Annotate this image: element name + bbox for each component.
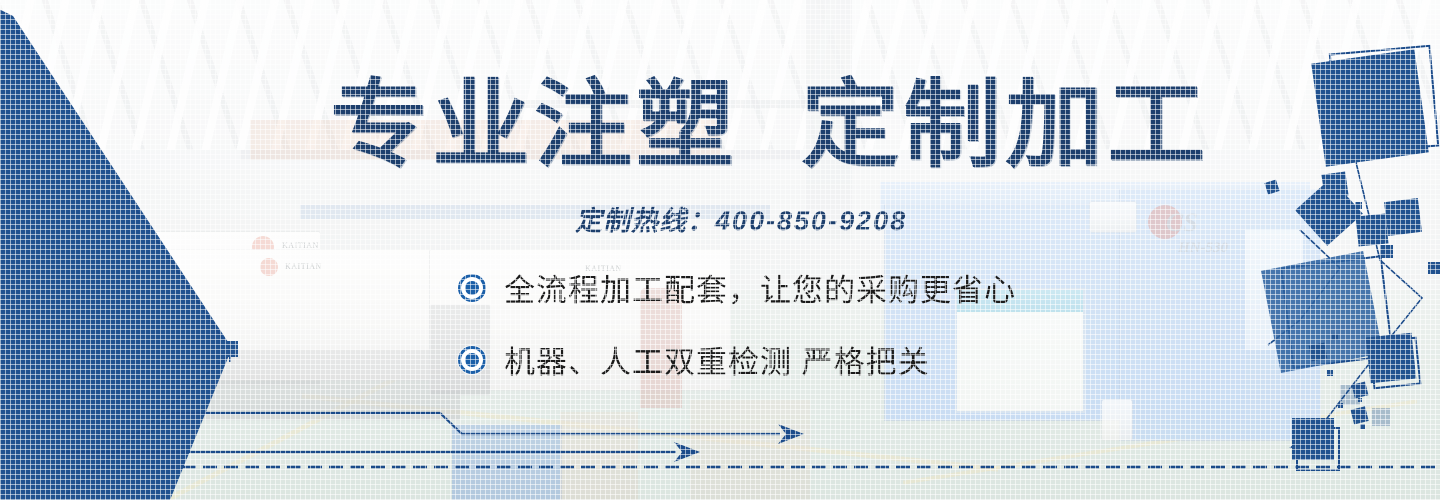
promo-banner: KAITIAN KAITIAN KAITIAN CS HN-530: [0, 0, 1440, 500]
list-item: 全流程加工配套，让您的采购更省心: [458, 265, 1016, 310]
hotline-number[interactable]: 400-850-9208: [715, 206, 907, 236]
headline-part-1: 专业注塑: [330, 78, 738, 174]
banner-content: 专业注塑 定制加工 定制热线：400-850-9208 全流程加工配套，让您的采…: [0, 0, 1440, 500]
bullet-ring-icon: [458, 274, 486, 302]
list-item-label: 机器、人工双重检测 严格把关: [504, 337, 930, 382]
page-title: 专业注塑 定制加工: [330, 78, 1209, 174]
hotline-text: 定制热线：400-850-9208: [575, 199, 907, 238]
hotline-label: 定制热线：: [575, 206, 715, 236]
bullet-ring-icon: [458, 346, 486, 374]
feature-list: 全流程加工配套，让您的采购更省心 机器、人工双重检测 严格把关: [458, 265, 1016, 382]
list-item: 机器、人工双重检测 严格把关: [458, 337, 1016, 382]
list-item-label: 全流程加工配套，让您的采购更省心: [504, 265, 1016, 310]
headline-part-2: 定制加工: [801, 78, 1209, 174]
